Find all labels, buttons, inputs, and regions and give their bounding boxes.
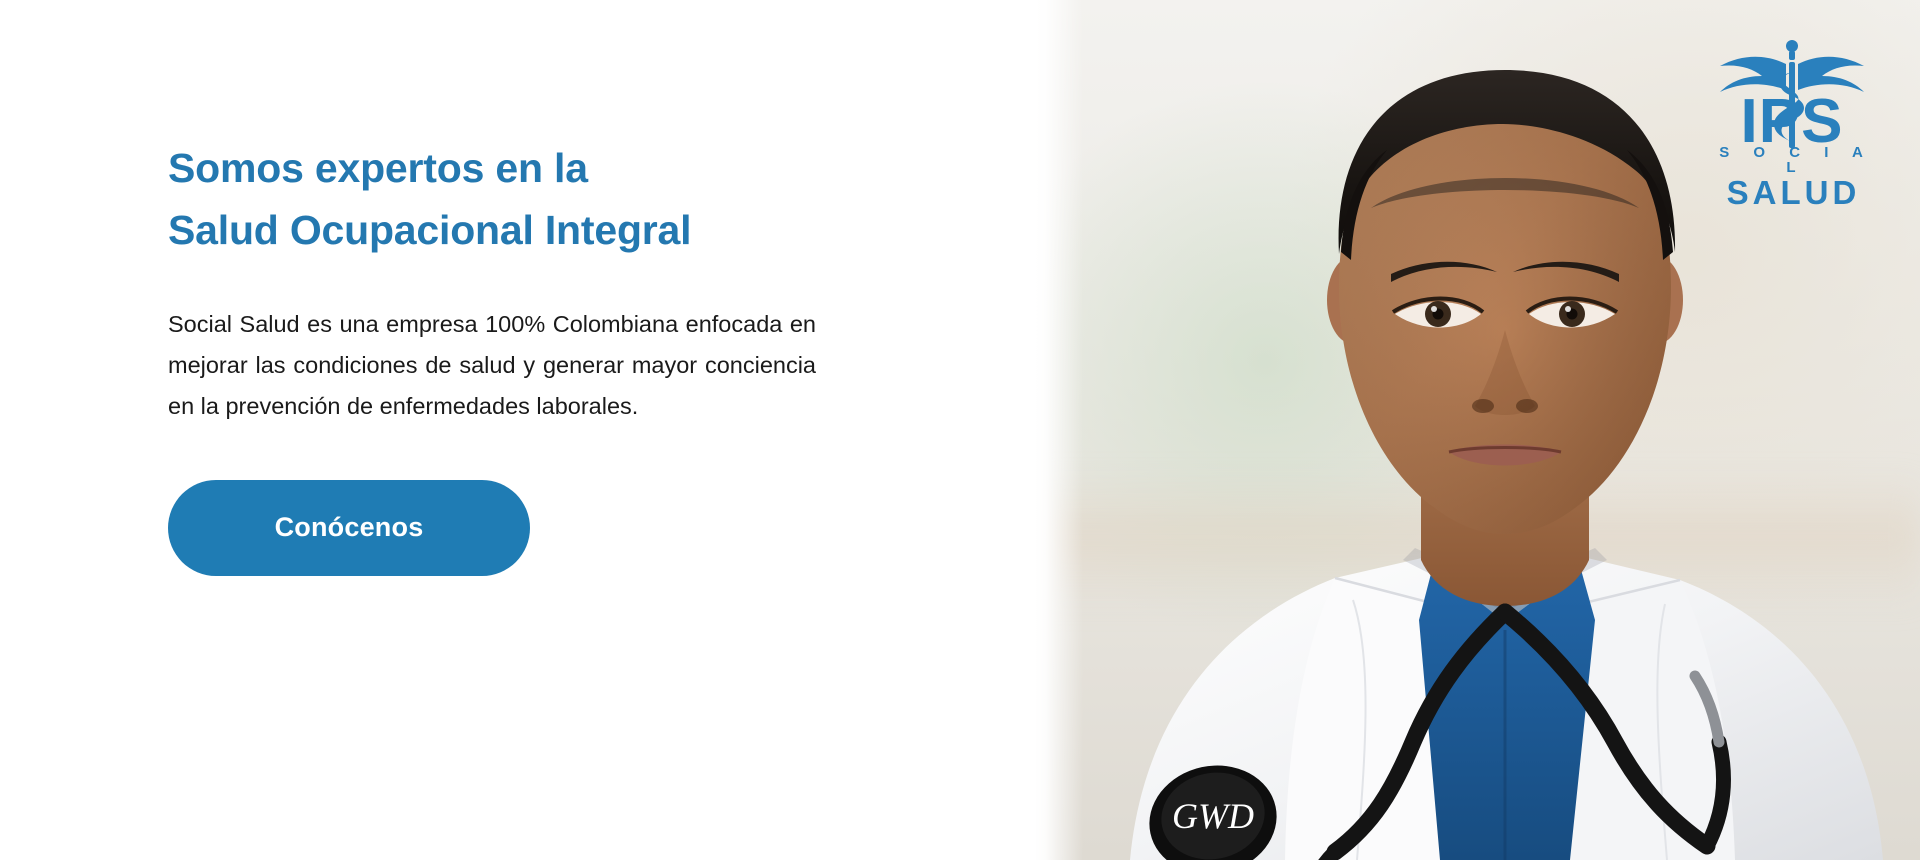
photo-left-feather (1035, 0, 1083, 860)
page-title: Somos expertos en la Salud Ocupacional I… (168, 137, 818, 262)
conocenos-button[interactable]: Conócenos (168, 480, 530, 576)
ips-social-salud-logo: IPS S O C I A L SALUD (1704, 38, 1880, 209)
hero-copy-inner: Somos expertos en la Salud Ocupacional I… (168, 137, 818, 576)
logo-initials-text: IPS (1741, 87, 1844, 148)
logo-salud-text: SALUD (1707, 176, 1880, 209)
hero-photo-pane: GWD IPS (1035, 0, 1920, 860)
hero-banner: Somos expertos en la Salud Ocupacional I… (0, 0, 1920, 860)
headline-line-1: Somos expertos en la (168, 137, 818, 199)
stethoscope-brand-text: GWD (1172, 796, 1254, 836)
hero-copy-pane: Somos expertos en la Salud Ocupacional I… (0, 0, 1035, 860)
cta-container: Conócenos (168, 480, 818, 576)
hero-description: Social Salud es una empresa 100% Colombi… (168, 304, 816, 428)
caduceus-icon: IPS (1704, 38, 1880, 148)
logo-social-text: S O C I A L (1712, 145, 1880, 175)
headline-line-2: Salud Ocupacional Integral (168, 199, 818, 261)
